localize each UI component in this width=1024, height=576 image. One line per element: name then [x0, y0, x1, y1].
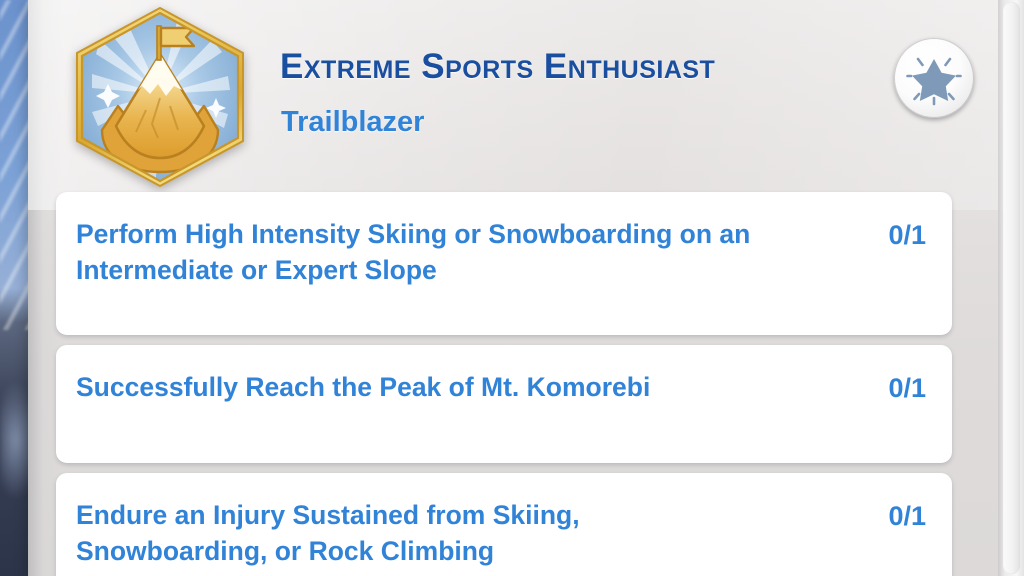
- objective-text: Successfully Reach the Peak of Mt. Komor…: [76, 369, 650, 405]
- aspiration-tier-label: Trailblazer: [281, 106, 424, 139]
- objective-row[interactable]: Successfully Reach the Peak of Mt. Komor…: [56, 345, 952, 463]
- objective-row[interactable]: Endure an Injury Sustained from Skiing, …: [56, 473, 952, 576]
- objective-text: Endure an Injury Sustained from Skiing, …: [76, 497, 776, 569]
- panel-scrollbar-track[interactable]: [998, 0, 1024, 576]
- objective-list: Perform High Intensity Skiing or Snowboa…: [56, 192, 952, 576]
- objective-counter: 0/1: [888, 369, 926, 406]
- aspiration-title: Extreme Sports Enthusiast: [280, 47, 715, 87]
- panel-scrollbar-thumb[interactable]: [1003, 2, 1020, 574]
- mountain-flag-hex-badge-icon: [66, 6, 254, 188]
- objective-counter: 0/1: [888, 497, 926, 534]
- objective-row[interactable]: Perform High Intensity Skiing or Snowboa…: [56, 192, 952, 335]
- objective-counter: 0/1: [888, 216, 926, 253]
- star-sparkle-icon: [906, 50, 962, 106]
- aspiration-badge: [66, 6, 254, 188]
- aspiration-panel-screen: Extreme Sports Enthusiast Trailblazer: [0, 0, 1024, 576]
- objective-text: Perform High Intensity Skiing or Snowboa…: [76, 216, 776, 288]
- aspiration-reward-button[interactable]: [894, 38, 974, 118]
